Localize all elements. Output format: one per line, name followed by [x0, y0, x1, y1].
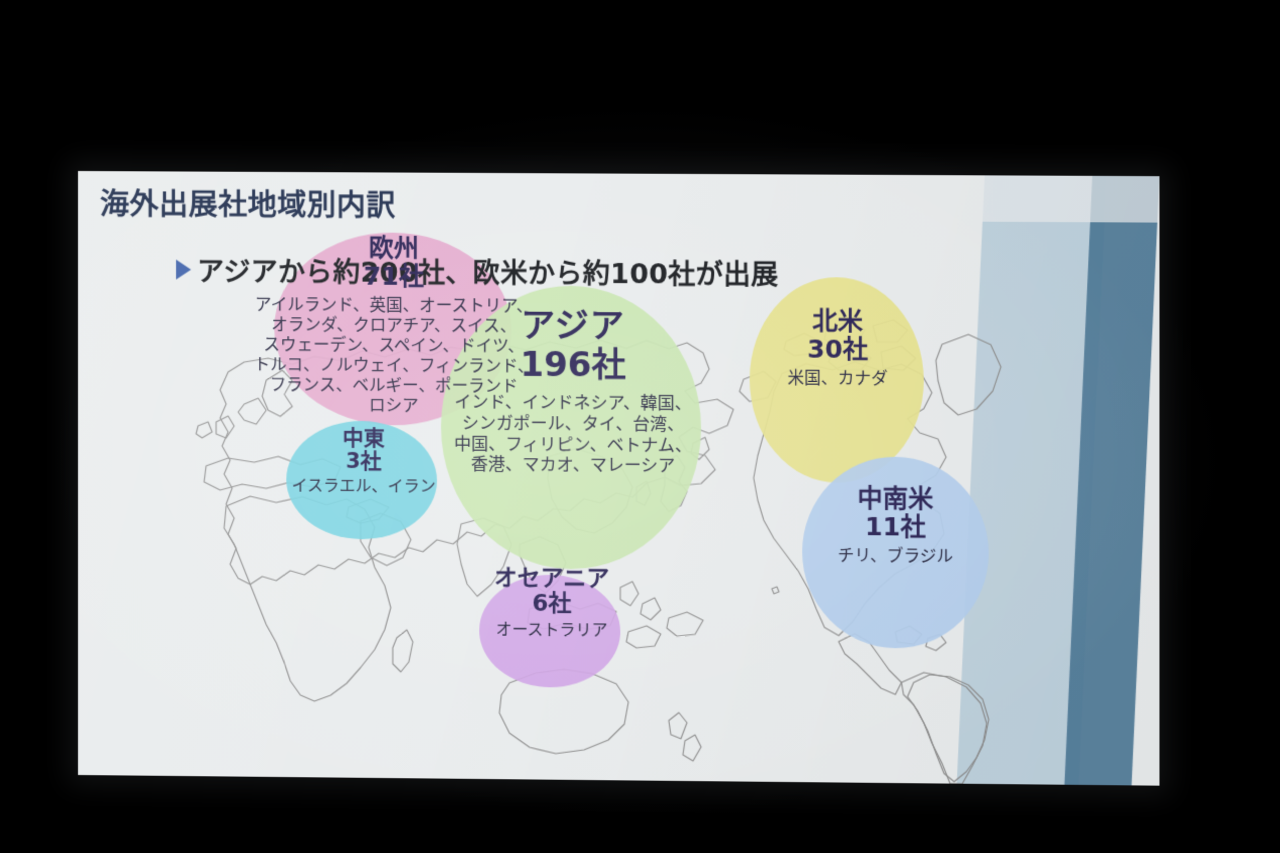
region-name-north-america: 北米 — [746, 307, 930, 335]
region-country-line: チリ、ブラジル — [800, 545, 991, 567]
region-country-line: シンガポール、タイ、台湾、 — [417, 413, 730, 436]
region-label-north-america: 北米 30社 米国、カナダ — [746, 307, 930, 389]
region-name-oceania: オセアニア — [461, 566, 642, 592]
region-count-oceania: 6社 — [461, 591, 642, 618]
region-country-line: 中国、フィリピン、ベトナム、 — [417, 434, 730, 457]
region-name-south-america: 中南米 — [800, 484, 991, 513]
slide-title: 海外出展社地域別内訳 — [100, 181, 396, 225]
region-label-south-america: 中南米 11社 チリ、ブラジル — [800, 484, 991, 567]
region-countries-oceania: オーストラリア — [461, 619, 642, 640]
region-country-line: インド、インドネシア、韓国、 — [417, 392, 730, 415]
region-country-line: イスラエル、イラン — [268, 475, 459, 496]
region-countries-middle-east: イスラエル、イラン — [268, 475, 459, 496]
presentation-slide: 海外出展社地域別内訳 アジアから約200社、欧米から約100社が出展 — [78, 171, 1159, 786]
region-countries-asia: インド、インドネシア、韓国、シンガポール、タイ、台湾、中国、フィリピン、ベトナム… — [417, 392, 730, 477]
region-country-line: オーストラリア — [461, 619, 642, 640]
region-countries-north-america: 米国、カナダ — [746, 368, 930, 389]
region-name-europe: 欧州 — [178, 234, 610, 263]
region-label-asia: アジア 196社 インド、インドネシア、韓国、シンガポール、タイ、台湾、中国、フ… — [417, 307, 730, 478]
decorative-band-top-fade — [966, 175, 1159, 222]
region-count-asia: 196社 — [417, 346, 730, 386]
region-count-europe: 71社 — [178, 262, 610, 292]
projected-slide-photo: 海外出展社地域別内訳 アジアから約200社、欧米から約100社が出展 — [0, 0, 1280, 853]
region-label-oceania: オセアニア 6社 オーストラリア — [461, 566, 642, 640]
region-countries-south-america: チリ、ブラジル — [800, 545, 991, 567]
region-country-line: 香港、マカオ、マレーシア — [417, 455, 730, 478]
projection-surface: 海外出展社地域別内訳 アジアから約200社、欧米から約100社が出展 — [0, 0, 1280, 853]
region-name-asia: アジア — [417, 307, 730, 346]
region-count-north-america: 30社 — [746, 335, 930, 364]
region-country-line: 米国、カナダ — [746, 368, 930, 389]
region-count-south-america: 11社 — [800, 513, 991, 542]
